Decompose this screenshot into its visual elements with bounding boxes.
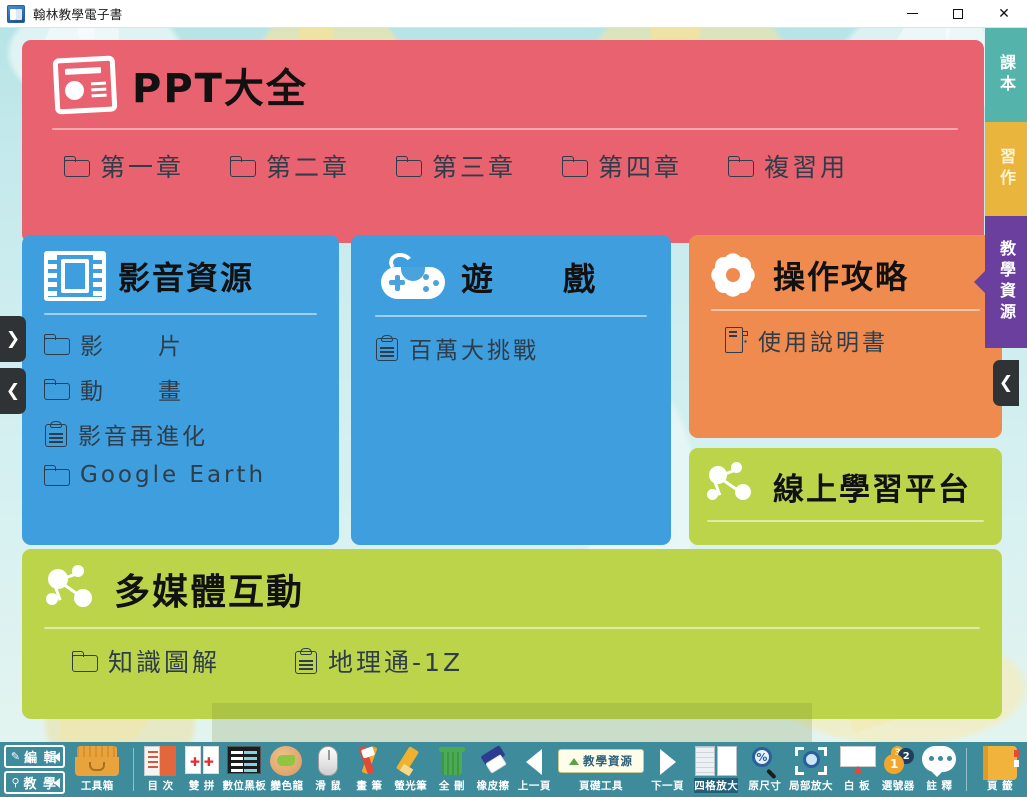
highlighter-icon [396,746,426,776]
presentation-icon [54,57,116,113]
view-quad-zoom-label: 四格放大 [694,778,738,793]
network-icon [705,462,761,510]
trash-icon [439,746,465,776]
app-icon [7,5,25,23]
chevron-left-icon: ❮ [999,373,1013,393]
tool-eraser-label: 橡皮擦 [477,778,510,793]
toolbar-separator [133,748,134,791]
tool-chameleon-label: 變色龍 [271,778,304,793]
view-whiteboard-label: 白 板 [844,778,870,793]
side-tab-rail: 課本 習作 教學資源 ❮ [985,28,1027,406]
panel-game-items: 百萬大挑戰 [351,317,671,365]
mode-edit-button[interactable]: ✎ 編 輯 [4,745,65,768]
folder-icon [64,156,90,177]
number-badge-main: 1 [884,754,904,774]
page-tools-select[interactable]: 教學資源 [558,749,644,773]
toolbox-icon [75,746,119,776]
contents-icon [144,746,176,776]
panel-platform[interactable]: 線上學習平台 [689,448,1002,545]
guide-item-0[interactable]: 使用說明書 [725,323,1002,357]
panel-interactive-header: 多媒體互動 [22,549,1002,615]
book-spread-icon [695,746,737,776]
sidebar-tab-workbook-label: 習作 [994,148,1018,190]
panel-game-title: 遊 戲 [461,254,597,300]
minimize-button[interactable] [889,0,935,28]
nav-next-page[interactable]: 下一頁 [647,742,688,797]
pen-icon [354,746,384,776]
panel-media-items: 影 片 動 畫 影音再進化 Google Earth [22,315,339,488]
view-actual-size[interactable]: % 原尺寸 [744,742,785,797]
view-region-zoom[interactable]: 局部放大 [786,742,837,797]
pencil-icon: ✎ [11,750,21,763]
panel-interactive-title: 多媒體互動 [114,563,304,615]
number-picker-icon: 3 2 1 [882,746,914,776]
view-comment-label: 註 釋 [926,778,952,793]
tool-pen[interactable]: 畫 筆 [349,742,390,797]
tool-contents-label: 目 次 [148,778,174,793]
content-stage: PPT大全 第一章 第二章 第三章 [0,28,1027,742]
panel-interactive-items: 知識圖解 地理通-1Z [22,629,1002,679]
mode-switcher: ✎ 編 輯 ⚲ 教 學 [0,742,68,797]
media-item-0[interactable]: 影 片 [44,327,339,361]
blackboard-icon [227,746,261,774]
ppt-item-2-label: 第三章 [432,148,516,184]
tool-clear-all[interactable]: 全 刪 [431,742,472,797]
clipboard-icon [294,648,318,674]
application-window: 翰林教學電子書 ✕ PPT大全 [0,0,1027,797]
close-icon: ✕ [998,7,1010,21]
panel-media-title: 影音資源 [118,253,254,299]
folder-icon [396,156,422,177]
maximize-button[interactable] [935,0,981,28]
view-number-picker-label: 選號器 [882,778,915,793]
ppt-item-4-label: 複習用 [764,148,848,184]
panel-interactive: 多媒體互動 知識圖解 地理通-1Z [22,549,1002,719]
tool-mouse-label: 滑 鼠 [315,778,341,793]
crop-zoom-icon [795,746,827,776]
gamepad-icon [379,253,447,301]
ppt-item-4[interactable]: 複習用 [728,148,848,184]
chevron-left-icon: ❮ [6,381,20,401]
panel-ppt-header: PPT大全 [22,40,984,114]
view-region-zoom-label: 局部放大 [789,778,833,793]
view-whiteboard[interactable]: 白 板 [836,742,877,797]
tool-pen-label: 畫 筆 [356,778,382,793]
folder-icon [230,156,256,177]
tool-clear-all-label: 全 刪 [439,778,465,793]
chevron-right-icon: ❯ [6,329,20,349]
folder-icon [562,156,588,177]
interactive-item-0-label: 知識圖解 [108,643,220,679]
folder-icon [44,334,70,355]
toolbar-separator [966,748,967,791]
ppt-item-3[interactable]: 第四章 [562,148,682,184]
eraser-icon [478,746,508,774]
gear-icon [709,251,757,299]
minimize-icon [907,13,918,14]
media-item-1-label: 動 畫 [80,372,184,406]
sidebar-tab-textbook-label: 課本 [994,54,1018,96]
sidebar-tab-teaching-resources-label: 教學資源 [994,240,1018,324]
panel-guide-items: 使用說明書 [689,311,1002,357]
page-tools-value: 教學資源 [583,753,633,769]
interactive-item-0[interactable]: 知識圖解 [72,643,220,679]
page-tools-dropdown[interactable]: 教學資源 頁礎工具 [555,742,647,797]
title-bar: 翰林教學電子書 ✕ [0,0,1027,28]
tool-split-view[interactable]: ✚✚ 雙 拼 [181,742,222,797]
film-icon [44,251,106,301]
tool-blackboard[interactable]: 數位黑板 [222,742,266,797]
comment-icon [922,746,956,772]
panel-platform-divider [707,520,984,522]
media-item-3[interactable]: Google Earth [44,462,339,488]
media-item-3-label: Google Earth [80,462,266,488]
clipboard-icon [375,335,399,361]
folder-icon [728,156,754,177]
panel-media: 影音資源 影 片 動 畫 影音再進化 [22,235,339,545]
media-item-2-label: 影音再進化 [78,417,208,451]
panel-game-header: 遊 戲 [351,235,671,301]
sidebar-tab-textbook[interactable]: 課本 [985,28,1027,122]
network-icon [44,565,100,613]
panel-platform-header: 線上學習平台 [689,448,1002,510]
panel-game: 遊 戲 百萬大挑戰 [351,235,671,545]
toolbox-button[interactable]: 工具箱 [68,742,128,797]
panel-ppt-items: 第一章 第二章 第三章 第四章 [22,130,984,184]
close-button[interactable]: ✕ [981,0,1027,28]
window-title: 翰林教學電子書 [33,4,123,23]
panel-guide-header: 操作攻略 [689,235,1002,299]
mouse-icon [318,746,338,776]
sidebar-tab-workbook[interactable]: 習作 [985,122,1027,216]
sidebar-tab-teaching-resources[interactable]: 教學資源 [985,216,1027,348]
caret-up-icon [569,758,579,765]
nav-next-page-label: 下一頁 [651,778,684,793]
media-item-1[interactable]: 動 畫 [44,372,339,406]
guide-item-0-label: 使用說明書 [758,323,888,357]
book-icon [725,327,748,353]
whiteboard-icon [840,746,874,774]
mode-edit-label: 編 輯 [24,747,58,766]
tool-chameleon[interactable]: 變色龍 [266,742,307,797]
pointer-icon: ⚲ [11,776,20,789]
ppt-item-3-label: 第四章 [598,148,682,184]
bottom-toolbar: ✎ 編 輯 ⚲ 教 學 工具箱 目 次 ✚✚ 雙 拼 [0,742,1027,797]
tool-split-view-label: 雙 拼 [189,778,215,793]
expand-right-button[interactable]: ❯ [0,316,26,362]
interactive-item-1-label: 地理通-1Z [328,643,463,679]
folder-icon [72,651,98,672]
ppt-item-0-label: 第一章 [100,148,184,184]
game-item-0-label: 百萬大挑戰 [409,331,539,365]
window-controls: ✕ [889,0,1027,28]
panel-ppt-title: PPT大全 [132,56,308,114]
media-item-0-label: 影 片 [80,327,184,361]
nav-prev-page-label: 上一頁 [518,778,551,793]
panel-guide: 操作攻略 使用說明書 [689,235,1002,438]
nav-prev-page[interactable]: 上一頁 [514,742,555,797]
folder-icon [44,379,70,400]
split-view-icon: ✚✚ [185,746,219,774]
ppt-item-1-label: 第二章 [266,148,350,184]
clipboard-icon [44,421,68,447]
media-item-2[interactable]: 影音再進化 [44,417,339,451]
tool-blackboard-label: 數位黑板 [222,778,266,793]
arrow-left-icon [526,749,542,775]
toolbar-right-group: 頁 籤 [960,742,1027,797]
mode-teach-button[interactable]: ⚲ 教 學 [4,771,65,794]
panel-media-header: 影音資源 [22,235,339,301]
view-quad-zoom[interactable]: 四格放大 [688,742,744,797]
tool-highlighter-label: 螢光筆 [394,778,427,793]
sidebar-collapse-button[interactable]: ❮ [993,360,1019,406]
collapse-left-button[interactable]: ❮ [0,368,26,414]
tool-mouse[interactable]: 滑 鼠 [308,742,349,797]
maximize-icon [953,9,963,19]
mode-teach-label: 教 學 [24,773,58,792]
tool-contents[interactable]: 目 次 [140,742,181,797]
magnifier-percent-icon: % [750,746,780,776]
toolbox-label: 工具箱 [81,778,114,793]
bookmark-button[interactable]: 頁 籤 [973,742,1027,797]
magnifier-percent-symbol: % [752,747,772,767]
panel-platform-title: 線上學習平台 [773,464,971,509]
view-comment[interactable]: 註 釋 [919,742,960,797]
tool-eraser[interactable]: 橡皮擦 [473,742,514,797]
panel-guide-title: 操作攻略 [773,252,909,298]
arrow-right-icon [660,749,676,775]
ppt-item-2[interactable]: 第三章 [396,148,516,184]
chameleon-icon [270,746,302,776]
ppt-item-1[interactable]: 第二章 [230,148,350,184]
page-tools-label: 頁礎工具 [579,778,623,793]
game-item-0[interactable]: 百萬大挑戰 [375,331,671,365]
bookmark-icon [983,746,1017,780]
view-number-picker[interactable]: 3 2 1 選號器 [878,742,919,797]
page-shadow-strip [212,703,812,742]
ppt-item-0[interactable]: 第一章 [64,148,184,184]
tool-highlighter[interactable]: 螢光筆 [390,742,431,797]
view-actual-size-label: 原尺寸 [748,778,781,793]
interactive-item-1[interactable]: 地理通-1Z [294,643,463,679]
bookmark-label: 頁 籤 [987,778,1013,793]
folder-icon [44,465,70,486]
panel-ppt: PPT大全 第一章 第二章 第三章 [22,40,984,243]
